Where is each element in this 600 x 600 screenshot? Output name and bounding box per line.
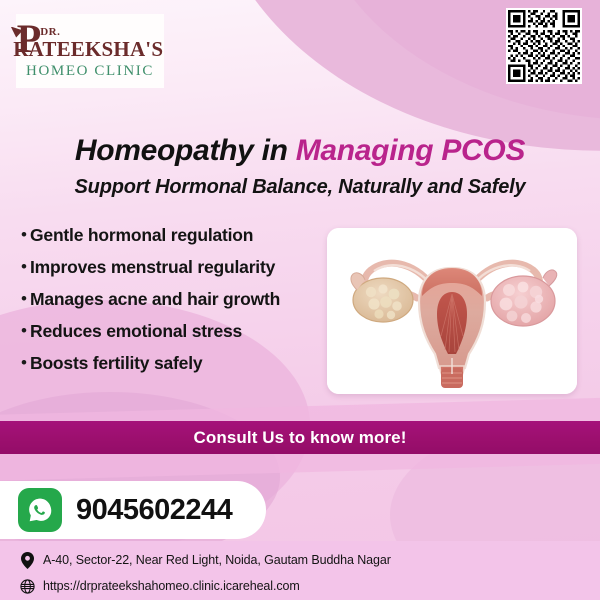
bullet-dot-icon: • bbox=[18, 222, 30, 248]
list-item: • Reduces emotional stress bbox=[18, 318, 318, 344]
logo-dr-text: DR. bbox=[40, 27, 163, 38]
list-item-label: Boosts fertility safely bbox=[30, 350, 202, 376]
cta-banner[interactable]: Consult Us to know more! bbox=[0, 421, 600, 454]
clinic-address: A-40, Sector-22, Near Red Light, Noida, … bbox=[43, 553, 391, 567]
clinic-website: https://drprateekshahomeo.clinic.icarehe… bbox=[43, 579, 300, 593]
page-subtitle: Support Hormonal Balance, Naturally and … bbox=[0, 176, 600, 199]
benefits-list: • Gentle hormonal regulation • Improves … bbox=[18, 222, 318, 382]
bullet-dot-icon: • bbox=[18, 350, 30, 376]
page-title: Homeopathy in Managing PCOS bbox=[0, 134, 600, 168]
phone-number: 9045602244 bbox=[76, 494, 232, 527]
list-item: • Gentle hormonal regulation bbox=[18, 222, 318, 248]
location-pin-icon bbox=[18, 552, 36, 569]
logo-initial-p: P bbox=[17, 23, 41, 56]
logo-dr-block: DR. RATEEKSHA'S bbox=[39, 27, 163, 60]
footer: A-40, Sector-22, Near Red Light, Noida, … bbox=[0, 541, 600, 600]
globe-icon bbox=[18, 579, 36, 594]
phone-contact-pill[interactable]: 9045602244 bbox=[0, 481, 266, 539]
list-item-label: Improves menstrual regularity bbox=[30, 254, 275, 280]
bullet-dot-icon: • bbox=[18, 254, 30, 280]
bullet-dot-icon: • bbox=[18, 318, 30, 344]
globe-glyph bbox=[20, 579, 35, 594]
uterus-ovaries-icon bbox=[327, 228, 577, 394]
clinic-logo: P DR. RATEEKSHA'S HOMEO CLINIC bbox=[16, 14, 164, 88]
logo-wordmark-top: P DR. RATEEKSHA'S bbox=[17, 23, 163, 60]
address-row: A-40, Sector-22, Near Red Light, Noida, … bbox=[18, 541, 600, 573]
list-item: • Improves menstrual regularity bbox=[18, 254, 318, 280]
list-item-label: Reduces emotional stress bbox=[30, 318, 242, 344]
logo-tagline: HOMEO CLINIC bbox=[26, 63, 154, 80]
list-item-label: Gentle hormonal regulation bbox=[30, 222, 253, 248]
cta-label: Consult Us to know more! bbox=[193, 428, 406, 448]
location-pin-glyph bbox=[21, 552, 34, 569]
headline-part1: Homeopathy in bbox=[75, 134, 296, 167]
qr-code-icon[interactable] bbox=[506, 8, 582, 84]
pcos-homeopathy-poster: P DR. RATEEKSHA'S HOMEO CLINIC bbox=[0, 0, 600, 600]
website-row[interactable]: https://drprateekshahomeo.clinic.icarehe… bbox=[18, 573, 600, 599]
list-item: • Manages acne and hair growth bbox=[18, 286, 318, 312]
list-item-label: Manages acne and hair growth bbox=[30, 286, 280, 312]
whatsapp-icon[interactable] bbox=[18, 488, 62, 532]
whatsapp-glyph bbox=[25, 495, 55, 525]
headline-accent: Managing PCOS bbox=[296, 134, 525, 167]
list-item: • Boosts fertility safely bbox=[18, 350, 318, 376]
qr-code-graphic bbox=[508, 10, 580, 82]
uterus-illustration-card bbox=[327, 228, 577, 394]
bullet-dot-icon: • bbox=[18, 286, 30, 312]
